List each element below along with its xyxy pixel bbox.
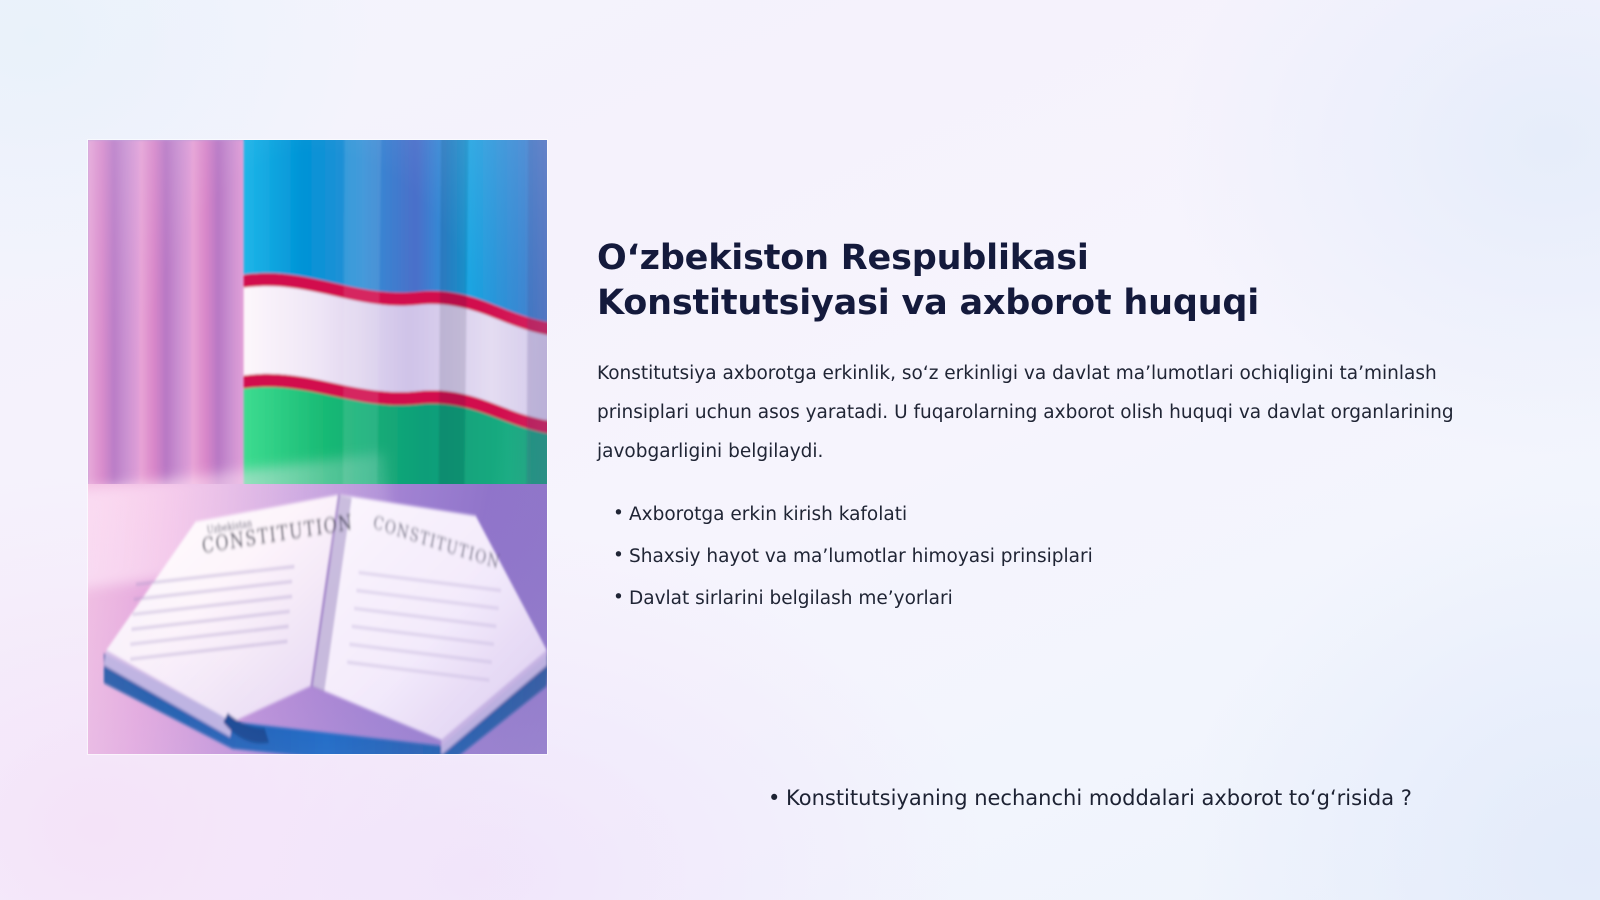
content-column: Oʻzbekiston Respublikasi Konstitutsiyasi… bbox=[597, 236, 1497, 620]
list-item: Shaxsiy hayot va ma’lumotlar himoyasi pr… bbox=[613, 536, 1497, 578]
constitution-illustration: Uzbekistan CONSTITUTION CONSTITUTION bbox=[88, 140, 547, 754]
principles-list: Axborotga erkin kirish kafolati Shaxsiy … bbox=[613, 494, 1497, 621]
discussion-question: Konstitutsiyaning nechanchi moddalari ax… bbox=[768, 783, 1412, 815]
slide-canvas: Uzbekistan CONSTITUTION CONSTITUTION bbox=[0, 0, 1600, 900]
list-item: Davlat sirlarini belgilash me’yorlari bbox=[613, 578, 1497, 620]
open-constitution-book: Uzbekistan CONSTITUTION CONSTITUTION bbox=[97, 429, 547, 754]
intro-paragraph: Konstitutsiya axborotga erkinlik, so‘z e… bbox=[597, 354, 1477, 472]
list-item: Axborotga erkin kirish kafolati bbox=[613, 494, 1497, 536]
page-title: Oʻzbekiston Respublikasi Konstitutsiyasi… bbox=[597, 236, 1497, 326]
